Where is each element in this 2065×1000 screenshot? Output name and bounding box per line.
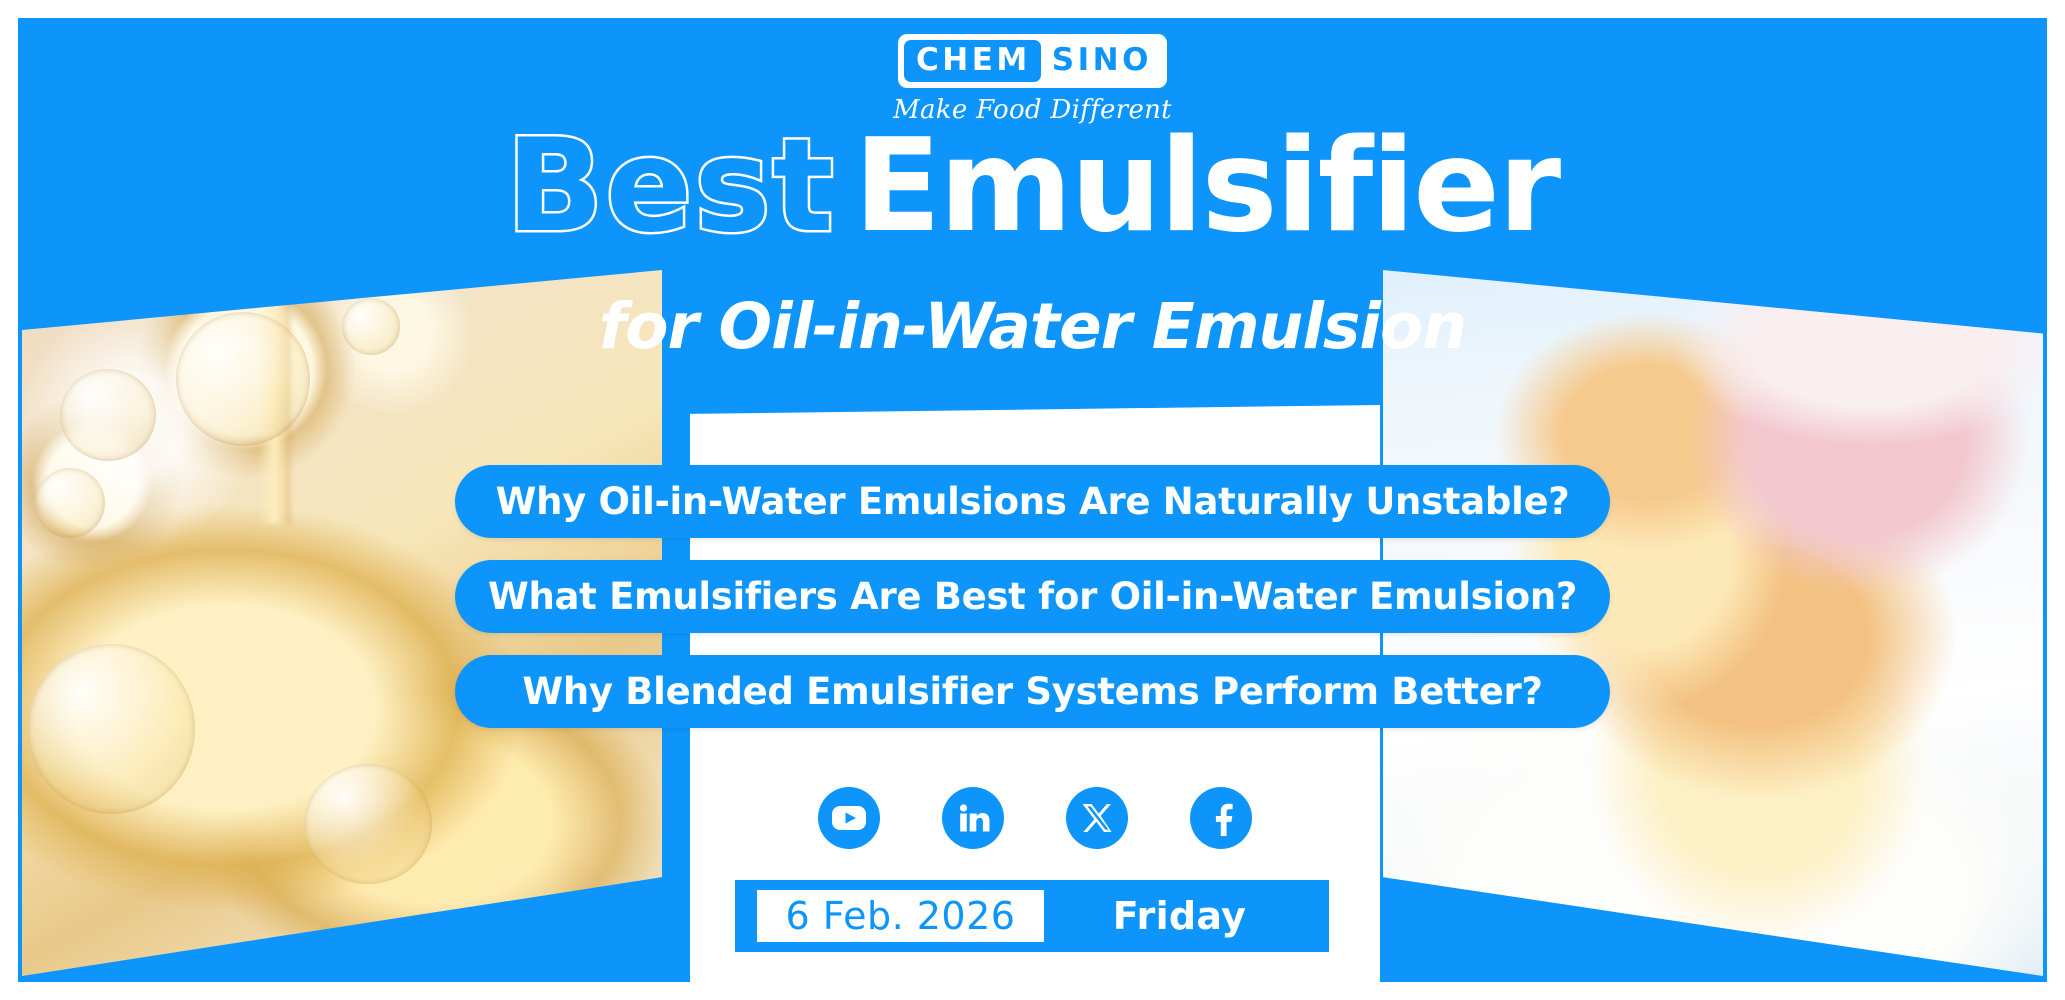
oil-bubble [60, 369, 156, 461]
title-word-emulsifier: Emulsifier [854, 112, 1559, 261]
question-pill-2[interactable]: What Emulsifiers Are Best for Oil-in-Wat… [455, 560, 1610, 633]
date-value: 6 Feb. 2026 [757, 890, 1044, 942]
logo-lockup: CHEM SINO [898, 34, 1167, 88]
oil-bubble [304, 764, 432, 884]
date-bar: 6 Feb. 2026 Friday [735, 880, 1329, 952]
title-word-best: Best [506, 112, 836, 261]
poster-canvas: CHEM SINO Make Food Different BestEmulsi… [0, 0, 2065, 1000]
facebook-icon[interactable] [1190, 787, 1252, 849]
x-twitter-icon[interactable] [1066, 787, 1128, 849]
oil-bubble [28, 644, 194, 813]
weekday-value: Friday [1044, 894, 1329, 938]
question-pill-1[interactable]: Why Oil-in-Water Emulsions Are Naturally… [455, 465, 1610, 538]
logo-sino-text: SINO [1041, 40, 1158, 82]
page-title: BestEmulsifier [0, 118, 2065, 256]
linkedin-icon[interactable] [942, 787, 1004, 849]
social-links [690, 787, 1380, 849]
question-pill-3[interactable]: Why Blended Emulsifier Systems Perform B… [455, 655, 1610, 728]
page-subtitle: for Oil-in-Water Emulsion [0, 290, 2065, 363]
question-list: Why Oil-in-Water Emulsions Are Naturally… [455, 465, 1610, 728]
youtube-icon[interactable] [818, 787, 880, 849]
logo-chem-text: CHEM [904, 40, 1041, 82]
oil-bubble [35, 468, 105, 539]
